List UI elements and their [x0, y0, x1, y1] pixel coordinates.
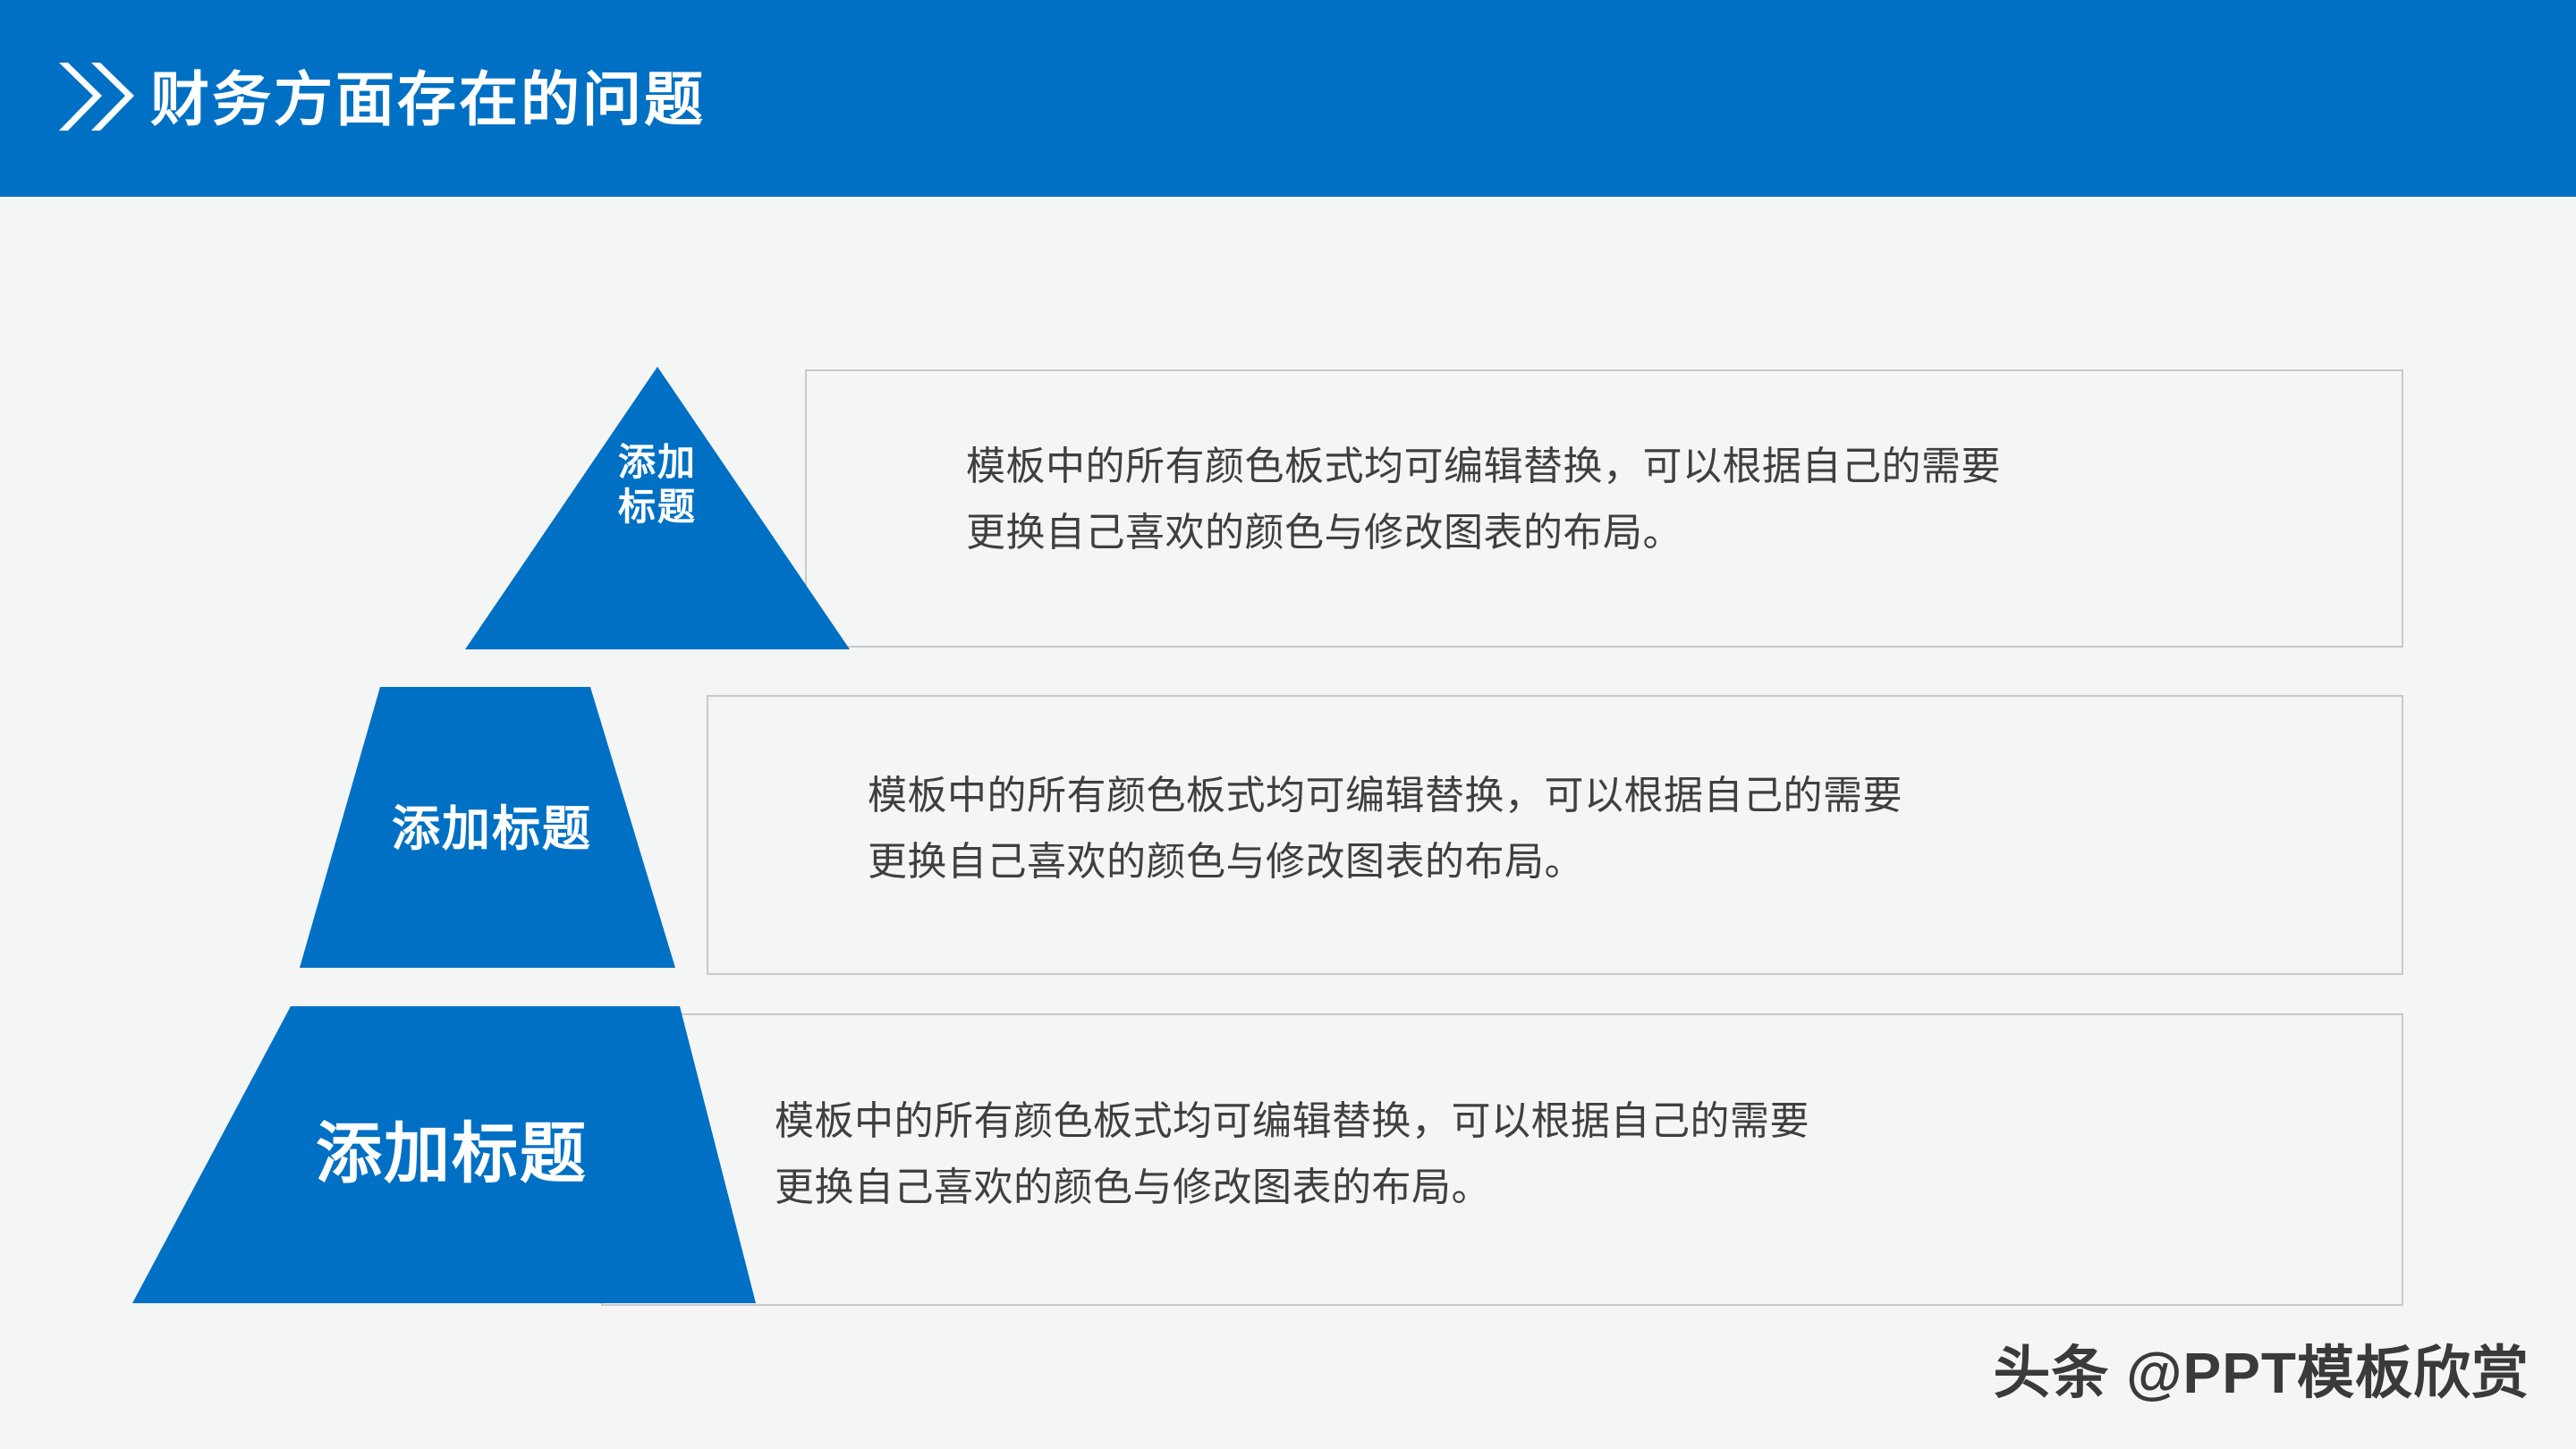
description-text-3: 模板中的所有颜色板式均可编辑替换，可以根据自己的需要更换自己喜欢的颜色与修改图表… [775, 1089, 1839, 1221]
description-card-3: 模板中的所有颜色板式均可编辑替换，可以根据自己的需要更换自己喜欢的颜色与修改图表… [601, 1013, 2403, 1306]
watermark-label: 头条 @PPT模板欣赏 [1993, 1327, 2529, 1410]
description-card-1: 模板中的所有颜色板式均可编辑替换，可以根据自己的需要更换自己喜欢的颜色与修改图表… [805, 369, 2403, 648]
pyramid-diagram: 模板中的所有颜色板式均可编辑替换，可以根据自己的需要更换自己喜欢的颜色与修改图表… [0, 197, 2576, 1449]
header-bar: 财务方面存在的问题 [0, 0, 2576, 197]
description-card-2: 模板中的所有颜色板式均可编辑替换，可以根据自己的需要更换自己喜欢的颜色与修改图表… [707, 695, 2403, 975]
pyramid-level-1-label: 添加 标题 [465, 440, 850, 529]
slide-canvas: 财务方面存在的问题 模板中的所有颜色板式均可编辑替换，可以根据自己的需要更换自己… [0, 0, 2576, 1449]
page-title: 财务方面存在的问题 [150, 0, 706, 197]
description-text-2: 模板中的所有颜色板式均可编辑替换，可以根据自己的需要更换自己喜欢的颜色与修改图表… [868, 763, 1932, 895]
description-text-1: 模板中的所有颜色板式均可编辑替换，可以根据自己的需要更换自己喜欢的颜色与修改图表… [966, 434, 2030, 566]
pyramid-level-3-label: 添加标题 [98, 1114, 805, 1192]
pyramid-level-2-label: 添加标题 [268, 801, 716, 859]
double-chevron-right-icon [52, 54, 138, 140]
